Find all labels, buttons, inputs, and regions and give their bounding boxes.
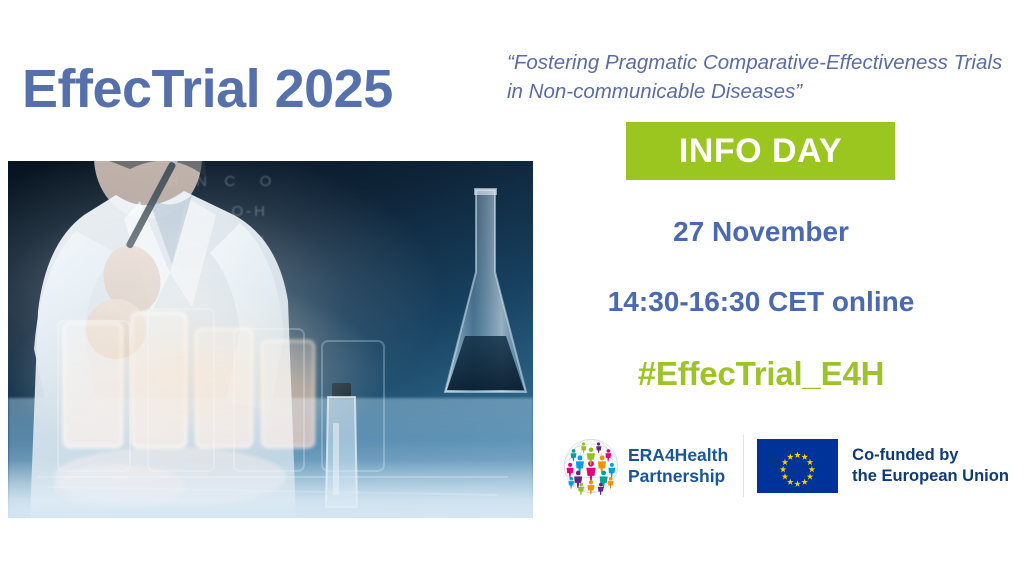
- eu-line2: the European Union: [852, 466, 1009, 487]
- era4health-line2: Partnership: [628, 466, 728, 487]
- event-date: 27 November: [536, 216, 986, 248]
- event-time: 14:30-16:30 CET online: [536, 286, 986, 318]
- info-day-banner: INFO DAY: [626, 122, 895, 180]
- eu-wordmark: Co-funded by the European Union: [852, 445, 1009, 488]
- globe-of-people-icon: [562, 437, 620, 495]
- sample-vial-icon: [320, 383, 362, 511]
- logos-row: ERA4Health Partnership Co-fu: [562, 430, 1009, 502]
- eu-flag-icon: [757, 439, 838, 493]
- co-funded-by-eu-logo: Co-funded by the European Union: [757, 430, 1009, 502]
- era4health-partnership-logo: ERA4Health Partnership: [562, 430, 728, 502]
- laboratory-double-exposure-photo: H N C O C H O-H H-C N H O H-C N: [8, 161, 533, 518]
- era4health-line1: ERA4Health: [628, 445, 728, 466]
- era4health-wordmark: ERA4Health Partnership: [628, 445, 728, 486]
- logo-divider: [743, 435, 744, 497]
- eu-line1: Co-funded by: [852, 445, 1009, 466]
- event-tagline: “Fostering Pragmatic Comparative-Effecti…: [507, 48, 1007, 106]
- info-day-label: INFO DAY: [679, 132, 842, 171]
- glassware-overlay-warm: [50, 301, 350, 511]
- page-title: EffecTrial 2025: [22, 58, 393, 120]
- event-hashtag: #EffecTrial_E4H: [536, 355, 986, 393]
